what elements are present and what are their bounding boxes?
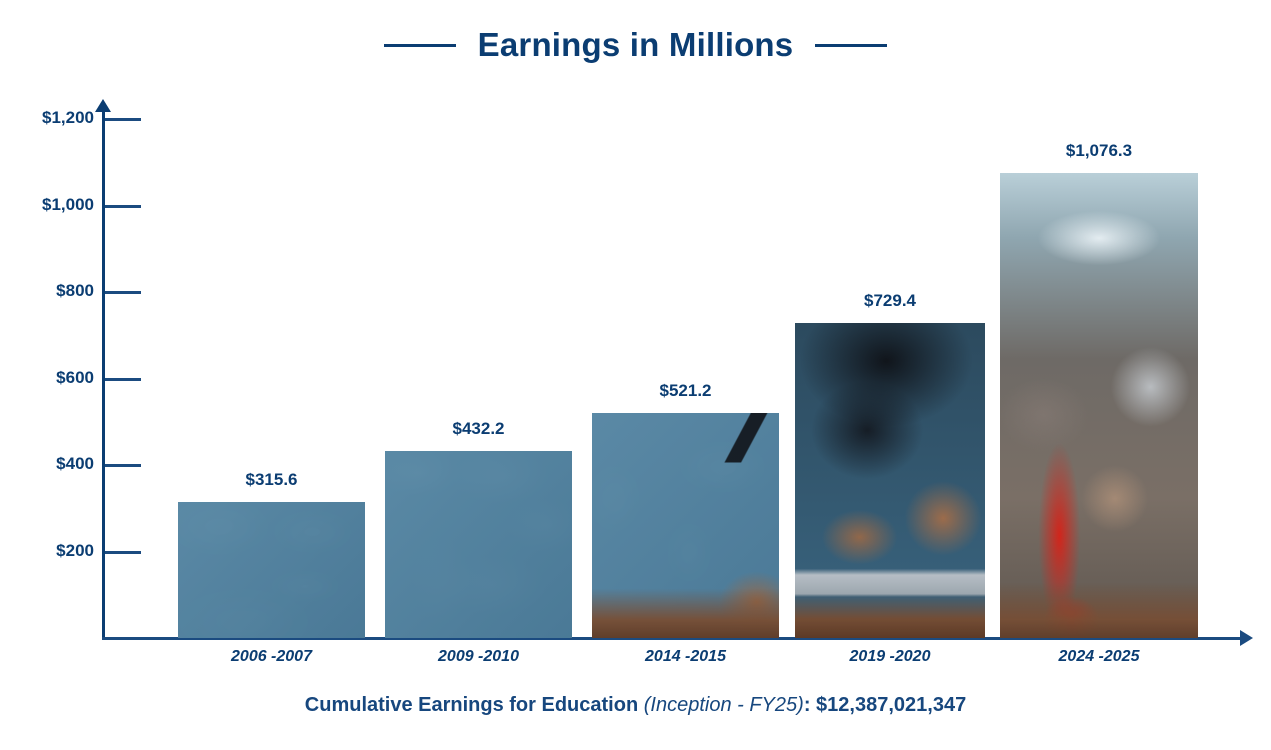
x-axis-category-label: 2006 -2007 xyxy=(178,648,365,666)
y-axis-tick-label: $1,200 xyxy=(8,108,94,128)
bar-2019-2020[interactable] xyxy=(795,323,985,638)
bar-value-label: $315.6 xyxy=(178,470,365,490)
y-axis-tick xyxy=(105,551,141,554)
bar-value-label: $729.4 xyxy=(795,291,985,311)
bar-2006-2007[interactable] xyxy=(178,502,365,638)
y-axis-tick-label: $800 xyxy=(8,281,94,301)
x-axis-category-label: 2014 -2015 xyxy=(592,648,779,666)
y-axis-tick xyxy=(105,118,141,121)
y-axis-tick xyxy=(105,464,141,467)
y-axis-tick xyxy=(105,378,141,381)
bar-value-label: $521.2 xyxy=(592,381,779,401)
y-axis-line xyxy=(102,110,105,640)
footer-separator: : xyxy=(804,694,811,716)
y-axis-tick-label: $200 xyxy=(8,541,94,561)
y-axis-tick xyxy=(105,291,141,294)
x-axis-category-label: 2009 -2010 xyxy=(385,648,572,666)
y-axis-tick-label: $600 xyxy=(8,368,94,388)
footer-amount: $12,387,021,347 xyxy=(816,694,966,716)
footer-period-label: (Inception - FY25) xyxy=(644,694,804,716)
bar-2014-2015[interactable] xyxy=(592,413,779,638)
bar-value-label: $1,076.3 xyxy=(1000,141,1198,161)
x-axis-category-label: 2024 -2025 xyxy=(1000,648,1198,666)
y-axis-tick xyxy=(105,205,141,208)
x-axis-category-label: 2019 -2020 xyxy=(795,648,985,666)
bar-2024-2025[interactable] xyxy=(1000,173,1198,638)
y-axis-tick-label: $400 xyxy=(8,454,94,474)
chart-plot-area: $200$400$600$800$1,000$1,200 $315.6$432.… xyxy=(0,0,1271,750)
y-axis-tick-label: $1,000 xyxy=(8,195,94,215)
chart-page: Earnings in Millions $200$400$600$800$1,… xyxy=(0,0,1271,750)
x-axis-arrow-icon xyxy=(1240,630,1253,646)
footer-main-label: Cumulative Earnings for Education xyxy=(305,694,638,716)
y-axis-arrow-icon xyxy=(95,99,111,112)
footer-summary: Cumulative Earnings for Education (Incep… xyxy=(0,694,1271,717)
bar-value-label: $432.2 xyxy=(385,419,572,439)
bar-2009-2010[interactable] xyxy=(385,451,572,638)
